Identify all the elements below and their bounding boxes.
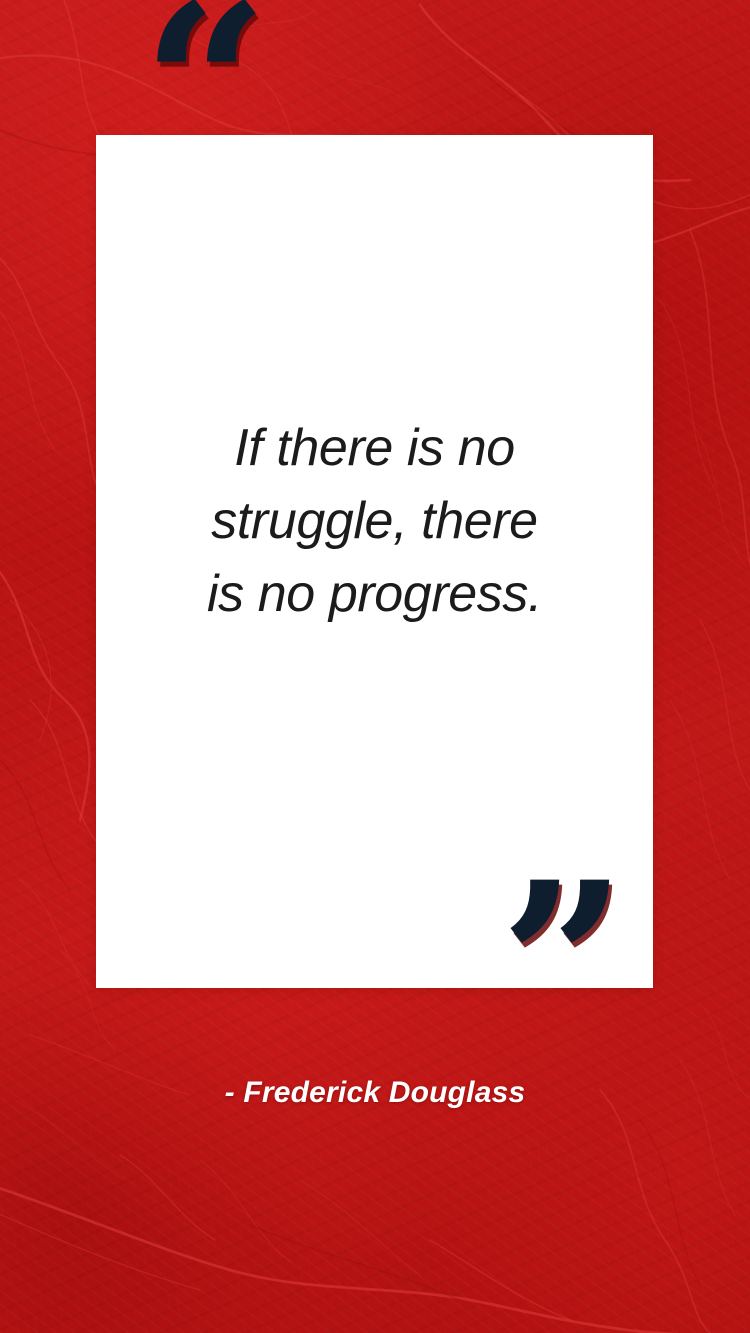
quote-line: If there is no	[96, 412, 653, 485]
closing-quote-mark-icon: ”	[500, 853, 627, 1073]
quote-text: If there is no struggle, there is no pro…	[96, 412, 653, 631]
quote-graphic-canvas: “ If there is no struggle, there is no p…	[0, 0, 750, 1333]
quote-line: struggle, there	[96, 485, 653, 558]
opening-quote-mark-icon: “	[142, 0, 269, 195]
quote-line: is no progress.	[96, 558, 653, 631]
quote-attribution: - Frederick Douglass	[0, 1076, 750, 1110]
